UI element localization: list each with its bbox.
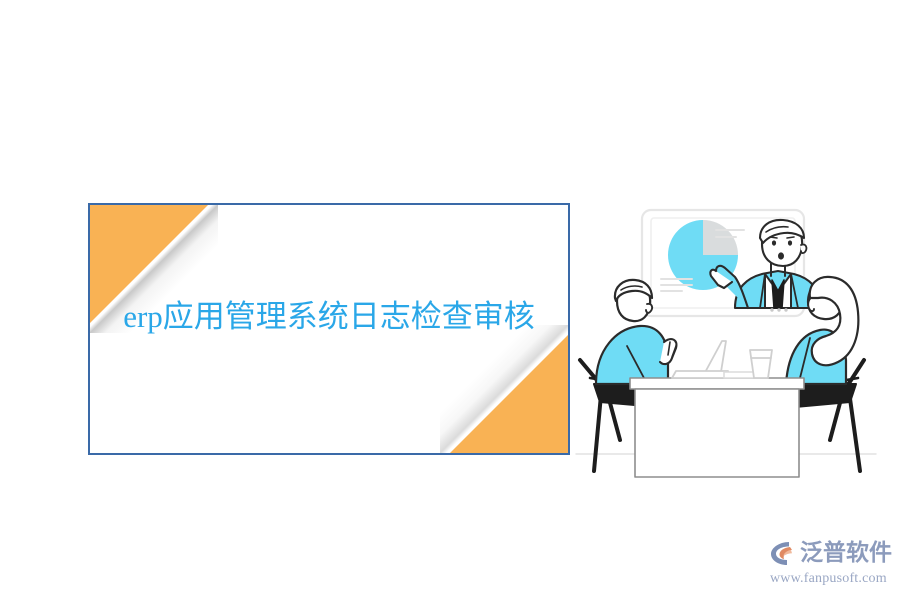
- watermark-url: www.fanpusoft.com: [770, 571, 896, 587]
- laptop: [672, 341, 730, 378]
- title-card: erp应用管理系统日志检查审核: [88, 203, 570, 455]
- conference-table-panel: [635, 389, 799, 477]
- conference-table-top: [630, 378, 804, 389]
- fanpu-circle-arc-logo-icon: [768, 538, 798, 568]
- page-title: erp应用管理系统日志检查审核: [90, 297, 568, 337]
- watermark-brand-name: 泛普软件: [800, 540, 892, 566]
- watermark-logo: 泛普软件 www.fanpusoft.com: [768, 536, 896, 588]
- corner-wedge-bottom-right-icon: [450, 335, 568, 453]
- video-conference-illustration: [572, 188, 880, 488]
- wall-mounted-display: [642, 210, 821, 316]
- display-status-dots: [770, 308, 787, 311]
- drinking-glass: [750, 350, 772, 378]
